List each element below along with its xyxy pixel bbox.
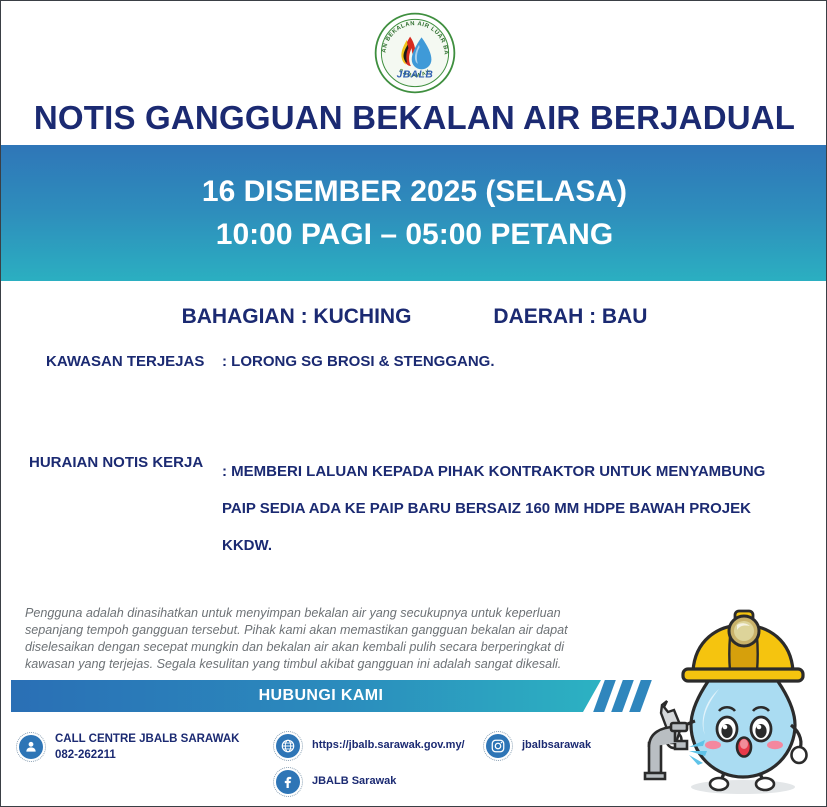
globe-icon [273, 731, 303, 761]
call-centre-name: CALL CENTRE JBALB SARAWAK [55, 731, 239, 747]
affected-area-label: KAWASAN TERJEJAS [46, 353, 222, 370]
person-icon [16, 732, 46, 762]
instagram-icon [483, 731, 513, 761]
contact-facebook[interactable]: JBALB Sarawak [273, 767, 396, 797]
facebook-icon [273, 767, 303, 797]
call-centre-number: 082-262211 [55, 747, 239, 763]
contact-call-centre[interactable]: CALL CENTRE JBALB SARAWAK 082-262211 [16, 731, 239, 764]
work-description-line-3: KKDW. [222, 528, 782, 565]
notice-poster: JABATAN BEKALAN AIR LUAR BANDAR SARAWAK … [0, 0, 827, 807]
contact-website[interactable]: https://jbalb.sarawak.gov.my/ [273, 731, 465, 761]
page-title: NOTIS GANGGUAN BEKALAN AIR BERJADUAL [1, 99, 827, 137]
facebook-page: JBALB Sarawak [312, 774, 396, 790]
disclaimer-text: Pengguna adalah dinasihatkan untuk menyi… [25, 605, 595, 674]
water-drop-mascot [631, 597, 821, 802]
notice-time: 10:00 PAGI – 05:00 PETANG [216, 213, 613, 257]
contact-bar: HUBUNGI KAMI [11, 680, 601, 712]
work-description-line-2: PAIP SEDIA ADA KE PAIP BARU BERSAIZ 160 … [222, 491, 782, 528]
region-row: BAHAGIAN : KUCHING DAERAH : BAU [1, 305, 827, 329]
svg-text:JBALB: JBALB [396, 70, 433, 81]
contact-bar-title: HUBUNGI KAMI [259, 687, 384, 705]
work-description-line-1: : MEMBERI LALUAN KEPADA PIHAK KONTRAKTOR… [222, 454, 782, 491]
date-time-banner: 16 DISEMBER 2025 (SELASA) 10:00 PAGI – 0… [1, 145, 827, 281]
affected-area-row: KAWASAN TERJEJAS : LORONG SG BROSI & STE… [46, 353, 495, 370]
notice-date: 16 DISEMBER 2025 (SELASA) [202, 170, 627, 214]
logo-container: JABATAN BEKALAN AIR LUAR BANDAR SARAWAK … [1, 9, 827, 97]
work-description-value: : MEMBERI LALUAN KEPADA PIHAK KONTRAKTOR… [222, 454, 782, 564]
instagram-handle: jbalbsarawak [522, 738, 591, 754]
contact-instagram[interactable]: jbalbsarawak [483, 731, 591, 761]
daerah-label: DAERAH : BAU [493, 305, 647, 329]
website-url: https://jbalb.sarawak.gov.my/ [312, 738, 465, 754]
call-centre-text: CALL CENTRE JBALB SARAWAK 082-262211 [55, 731, 239, 764]
work-description-label: HURAIAN NOTIS KERJA [29, 454, 222, 564]
jbalb-logo: JABATAN BEKALAN AIR LUAR BANDAR SARAWAK … [374, 12, 456, 94]
affected-area-value: : LORONG SG BROSI & STENGGANG. [222, 353, 495, 370]
bahagian-label: BAHAGIAN : KUCHING [182, 305, 412, 329]
work-description-row: HURAIAN NOTIS KERJA : MEMBERI LALUAN KEP… [29, 454, 782, 564]
